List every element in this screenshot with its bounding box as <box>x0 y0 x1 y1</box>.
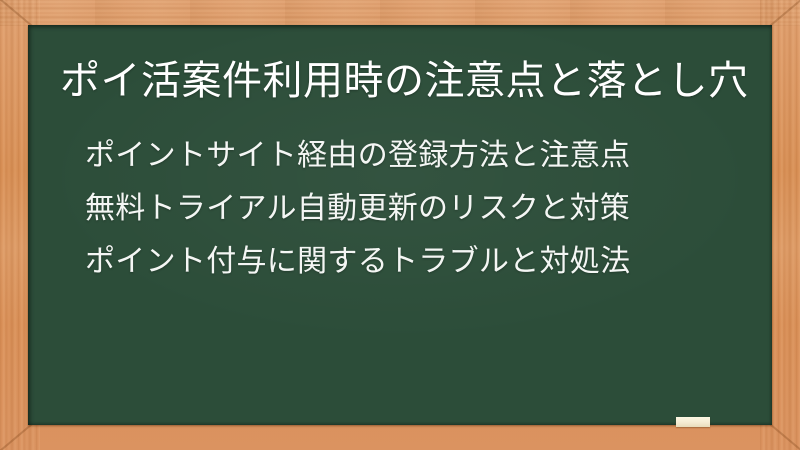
chalkboard-surface: ポイ活案件利用時の注意点と落とし穴 ポイントサイト経由の登録方法と注意点 無料ト… <box>28 25 772 425</box>
chalk-stick <box>676 417 710 427</box>
page-title: ポイ活案件利用時の注意点と落とし穴 <box>60 55 760 107</box>
bullet-list: ポイントサイト経由の登録方法と注意点 無料トライアル自動更新のリスクと対策 ポイ… <box>85 129 765 288</box>
frame-grain-top <box>0 0 800 26</box>
list-item: ポイントサイト経由の登録方法と注意点 <box>85 129 765 182</box>
list-item: ポイント付与に関するトラブルと対処法 <box>85 235 765 288</box>
list-item: 無料トライアル自動更新のリスクと対策 <box>85 182 765 235</box>
chalkboard-slide: ポイ活案件利用時の注意点と落とし穴 ポイントサイト経由の登録方法と注意点 無料ト… <box>0 0 800 450</box>
